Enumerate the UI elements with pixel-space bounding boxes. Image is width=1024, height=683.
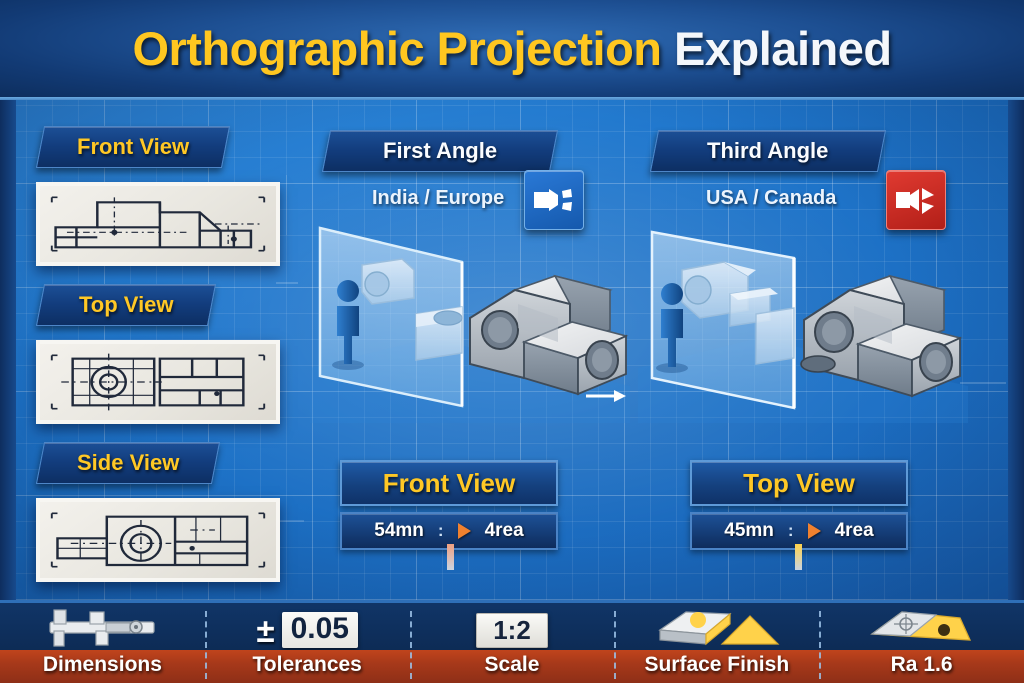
view-card-top-unit: 4rea <box>835 520 874 542</box>
third-angle-regions: USA / Canada <box>706 187 836 210</box>
first-angle-symbol-glyph <box>532 183 576 217</box>
orange-triangle-icon <box>808 523 821 539</box>
banner-front-view-label: Front View <box>77 134 189 160</box>
bottom-spec-bar: Dimensions ± 0.05 Tolerances 1:2 Scale <box>0 600 1024 683</box>
banner-side-view: Side View <box>36 442 220 484</box>
view-card-top-separator: : <box>788 521 794 541</box>
tolerance-value: 0.05 <box>282 612 358 648</box>
side-view-svg <box>48 510 268 570</box>
roughness-icon <box>862 603 982 648</box>
plus-minus-glyph: ± <box>256 614 274 647</box>
plus-minus-icon: ± 0.05 <box>256 603 358 648</box>
leader-stem <box>447 544 454 570</box>
first-angle-scene-svg <box>310 218 630 423</box>
banner-side-view-label: Side View <box>77 450 179 476</box>
banner-front-view: Front View <box>36 126 230 168</box>
first-angle-regions: India / Europe <box>372 187 504 210</box>
side-view-drawing <box>36 498 280 582</box>
banner-top-view-label: Top View <box>79 292 174 318</box>
title-bar: Orthographic Projection Explained <box>0 0 1024 100</box>
spec-item-surface-finish[interactable]: Surface Finish <box>614 603 819 683</box>
frame-left-edge <box>0 100 16 600</box>
spec-item-scale[interactable]: 1:2 Scale <box>410 603 615 683</box>
frame-right-edge <box>1008 100 1024 600</box>
first-angle-label: First Angle <box>383 138 497 164</box>
construction-line <box>276 282 298 284</box>
spec-item-roughness[interactable]: Ra 1.6 <box>819 603 1024 683</box>
spec-item-tolerances[interactable]: ± 0.05 Tolerances <box>205 603 410 683</box>
view-card-front: Front View 54mn : 4rea <box>340 460 558 550</box>
ruler-icon: 1:2 <box>476 603 548 648</box>
leader-stem <box>795 544 802 570</box>
spec-label-roughness: Ra 1.6 <box>819 650 1024 683</box>
view-card-top-title: Top View <box>690 460 908 506</box>
third-angle-scene <box>638 218 968 423</box>
spec-label-tolerances: Tolerances <box>205 650 410 683</box>
title-primary: Orthographic Projection <box>132 22 661 75</box>
top-view-drawing <box>36 340 280 424</box>
third-angle-symbol-glyph <box>894 183 938 217</box>
construction-line <box>286 175 287 235</box>
title-secondary: Explained <box>674 22 892 75</box>
view-card-top: Top View 45mn : 4rea <box>690 460 908 550</box>
bottom-spec-items: Dimensions ± 0.05 Tolerances 1:2 Scale <box>0 603 1024 683</box>
banner-third-angle: Third Angle <box>650 130 886 172</box>
infographic-root: Orthographic Projection Explained Front … <box>0 0 1024 683</box>
view-card-top-value: 45mn <box>724 520 774 542</box>
spec-label-dimensions: Dimensions <box>0 650 205 683</box>
scale-value: 1:2 <box>476 613 548 648</box>
banner-top-view: Top View <box>36 284 216 326</box>
top-view-svg <box>48 352 268 412</box>
third-angle-scene-svg <box>638 218 968 423</box>
first-angle-scene <box>310 218 630 423</box>
page-title: Orthographic Projection Explained <box>132 21 891 76</box>
view-card-front-value: 54mn <box>374 520 424 542</box>
spec-item-dimensions[interactable]: Dimensions <box>0 603 205 683</box>
view-card-front-title: Front View <box>340 460 558 506</box>
orange-triangle-icon <box>458 523 471 539</box>
surface-finish-icon <box>652 603 782 648</box>
view-card-front-unit: 4rea <box>485 520 524 542</box>
third-angle-label: Third Angle <box>707 138 828 164</box>
view-card-front-separator: : <box>438 521 444 541</box>
construction-line <box>278 520 304 522</box>
caliper-icon <box>44 603 160 648</box>
spec-label-scale: Scale <box>410 650 615 683</box>
front-view-drawing <box>36 182 280 266</box>
banner-first-angle: First Angle <box>322 130 558 172</box>
spec-label-surface-finish: Surface Finish <box>614 650 819 683</box>
front-view-svg <box>48 194 268 254</box>
